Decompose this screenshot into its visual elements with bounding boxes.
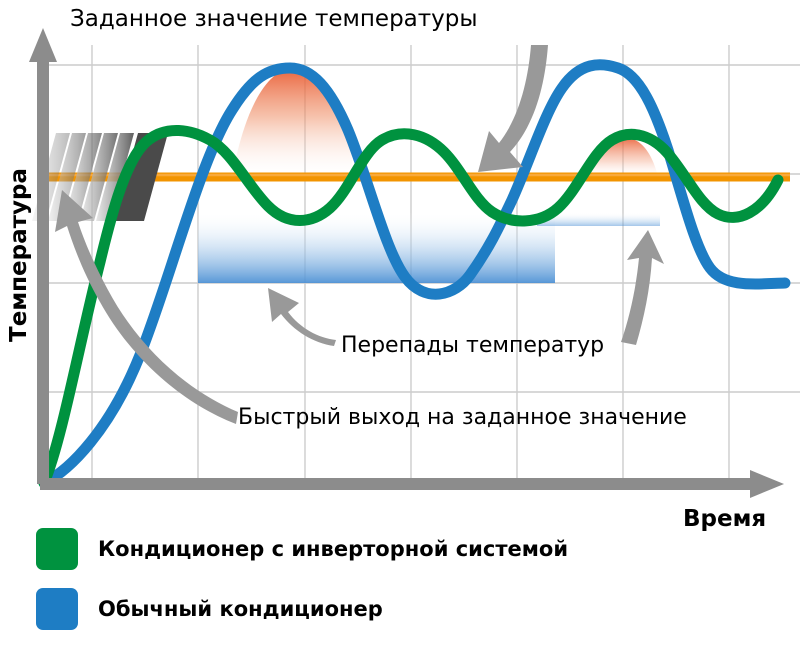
legend-label-conventional: Обычный кондиционер: [98, 597, 383, 621]
legend-swatch-icon-inverter: [36, 528, 78, 570]
legend-label-inverter: Кондиционер с инверторной системой: [98, 537, 568, 561]
fluctuations-callout-arrow-icon: [268, 288, 336, 346]
right-callout-arrow-icon: [621, 230, 664, 345]
y-axis: [29, 28, 57, 484]
x-axis: [40, 470, 784, 498]
inverter-vs-conventional-ac-chart: Заданное значение температуры Температур…: [0, 0, 809, 649]
legend-swatch-icon-conventional: [36, 588, 78, 630]
legend-item-conventional[interactable]: Обычный кондиционер: [36, 588, 796, 630]
legend-item-inverter[interactable]: Кондиционер с инверторной системой: [36, 528, 796, 570]
title-callout-arrow-icon: [478, 45, 548, 172]
legend: Кондиционер с инверторной системой Обычн…: [36, 528, 796, 630]
